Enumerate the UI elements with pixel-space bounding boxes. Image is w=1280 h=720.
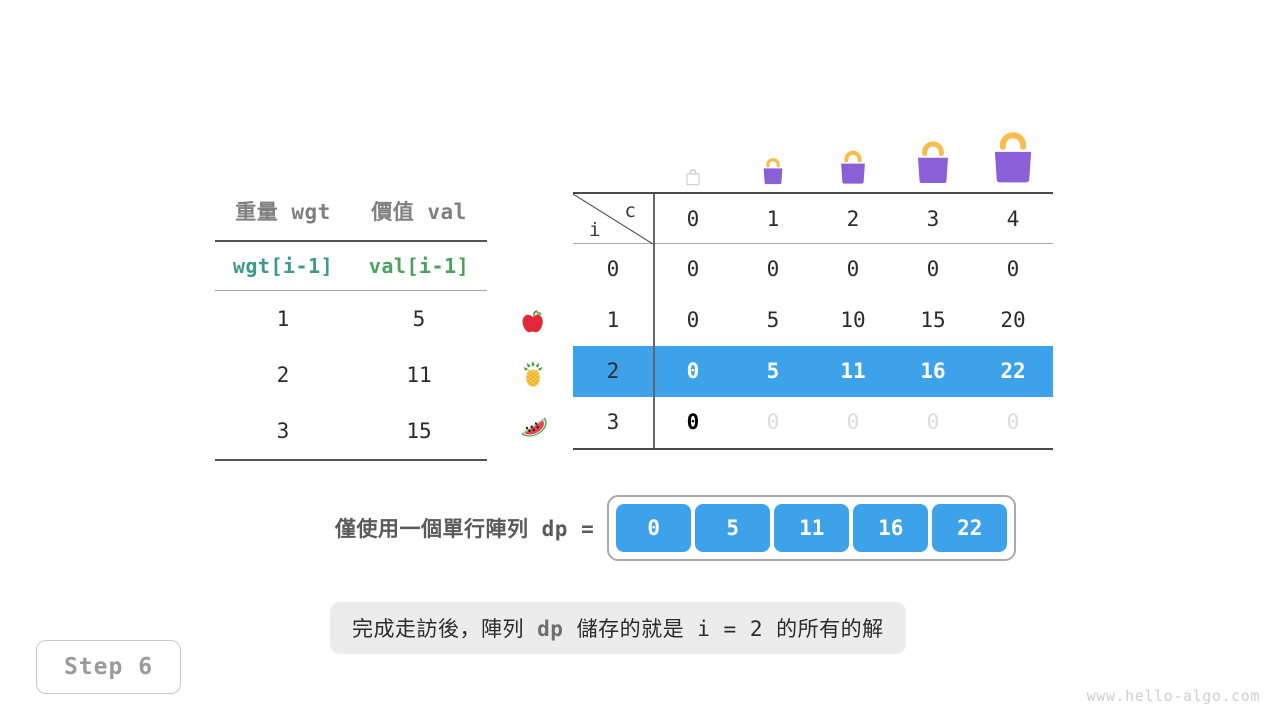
dp-cell: 0 — [653, 397, 733, 448]
pineapple-icon — [505, 348, 561, 399]
dp-matrix-table: c i 0 1 2 3 4 0 0 0 0 0 0 — [573, 192, 1053, 450]
table-row: 3 15 — [215, 403, 487, 459]
dp-col-header: 0 — [653, 194, 733, 244]
val-cell: 11 — [351, 347, 487, 403]
bag-icon-0 — [683, 166, 703, 186]
dp-cell: 20 — [973, 295, 1053, 346]
table-header-row: 重量 wgt 價值 val — [215, 190, 487, 240]
val-cell: 5 — [351, 291, 487, 347]
dp-array-label: 僅使用一個單行陣列 dp = — [335, 513, 594, 543]
caption-code-dp: dp — [537, 617, 563, 641]
dp-cell: 10 — [813, 295, 893, 346]
table-row: 3 0 0 0 0 0 — [573, 397, 1053, 448]
bag-icon-2 — [834, 148, 872, 186]
table-subheader-row: wgt[i-1] val[i-1] — [215, 240, 487, 291]
dp-row-values: 0 5 10 15 20 — [653, 295, 1053, 346]
step-badge: Step 6 — [36, 640, 181, 694]
wgt-cell: 1 — [215, 291, 351, 347]
fruit-icon-column — [505, 297, 561, 450]
caption-box: 完成走訪後，陣列 dp 儲存的就是 i = 2 的所有的解 — [330, 602, 906, 654]
body-vertical-divider — [653, 244, 655, 448]
dp-cell: 22 — [973, 346, 1053, 397]
dp-cell: 11 — [813, 346, 893, 397]
dp-row-index: 0 — [573, 244, 653, 295]
dp-array-cell: 11 — [774, 504, 849, 552]
bag-icon-3 — [909, 138, 957, 186]
weight-value-table: 重量 wgt 價值 val wgt[i-1] val[i-1] 1 5 2 11… — [215, 190, 487, 461]
dp-cell: 0 — [653, 346, 733, 397]
val-cell: 15 — [351, 403, 487, 459]
dp-cell: 0 — [973, 244, 1053, 295]
dp-row-values: 0 0 0 0 0 — [653, 244, 1053, 295]
table-row: 0 0 0 0 0 0 — [573, 244, 1053, 295]
dp-table-body: 0 0 0 0 0 0 1 0 5 10 15 20 — [573, 244, 1053, 450]
step-badge-label: Step 6 — [64, 654, 153, 680]
bag-icon-1 — [758, 156, 788, 186]
dp-cell: 0 — [653, 295, 733, 346]
table-row-highlighted: 2 0 5 11 16 22 — [573, 346, 1053, 397]
caption-text-before: 完成走訪後，陣列 — [352, 617, 524, 641]
subheader-wgt-expr: wgt[i-1] — [215, 242, 351, 290]
dp-cell: 16 — [893, 346, 973, 397]
dp-table-header-row: c i 0 1 2 3 4 — [573, 194, 1053, 244]
dp-row-index: 2 — [573, 346, 653, 397]
table-row: 1 5 — [215, 291, 487, 347]
dp-cell: 0 — [733, 244, 813, 295]
axis-label-i: i — [589, 219, 600, 241]
watermelon-icon — [505, 399, 561, 450]
table-bottom-rule — [215, 459, 487, 461]
dp-cell: 0 — [813, 244, 893, 295]
axis-corner-cell: c i — [573, 194, 653, 244]
dp-cell: 5 — [733, 346, 813, 397]
dp-cell: 15 — [893, 295, 973, 346]
dp-cell: 0 — [893, 397, 973, 448]
dp-array-cell: 5 — [695, 504, 770, 552]
dp-row-values: 0 5 11 16 22 — [653, 346, 1053, 397]
dp-col-header: 1 — [733, 194, 813, 244]
dp-col-header: 3 — [893, 194, 973, 244]
dp-col-header: 2 — [813, 194, 893, 244]
wgt-cell: 2 — [215, 347, 351, 403]
table-row: 1 0 5 10 15 20 — [573, 295, 1053, 346]
dp-cell: 0 — [733, 397, 813, 448]
dp-cell: 0 — [813, 397, 893, 448]
dp-column-headers: 0 1 2 3 4 — [653, 194, 1053, 244]
dp-array-container: 0 5 11 16 22 — [607, 495, 1016, 561]
diagonal-divider-icon — [573, 194, 653, 244]
dp-array-cell: 16 — [853, 504, 928, 552]
dp-row-index: 3 — [573, 397, 653, 448]
header-value: 價值 val — [351, 190, 487, 240]
dp-cell: 0 — [653, 244, 733, 295]
dp-row-index: 1 — [573, 295, 653, 346]
apple-icon — [505, 297, 561, 348]
dp-array-cell: 22 — [932, 504, 1007, 552]
slide-canvas: 重量 wgt 價值 val wgt[i-1] val[i-1] 1 5 2 11… — [0, 0, 1280, 720]
dp-col-header: 4 — [973, 194, 1053, 244]
dp-cell: 0 — [893, 244, 973, 295]
subheader-val-expr: val[i-1] — [351, 242, 487, 290]
dp-array-section: 僅使用一個單行陣列 dp = 0 5 11 16 22 — [335, 495, 1016, 561]
axis-label-c: c — [625, 200, 636, 222]
dp-array-cell: 0 — [616, 504, 691, 552]
bag-icon-4 — [984, 128, 1042, 186]
bag-icon-row — [653, 118, 1053, 186]
caption-text-after: 儲存的就是 i = 2 的所有的解 — [577, 617, 884, 641]
dp-row-values: 0 0 0 0 0 — [653, 397, 1053, 448]
header-weight: 重量 wgt — [215, 190, 351, 240]
watermark: www.hello-algo.com — [1087, 687, 1260, 705]
table-row: 2 11 — [215, 347, 487, 403]
dp-cell: 0 — [973, 397, 1053, 448]
wgt-cell: 3 — [215, 403, 351, 459]
dp-cell: 5 — [733, 295, 813, 346]
